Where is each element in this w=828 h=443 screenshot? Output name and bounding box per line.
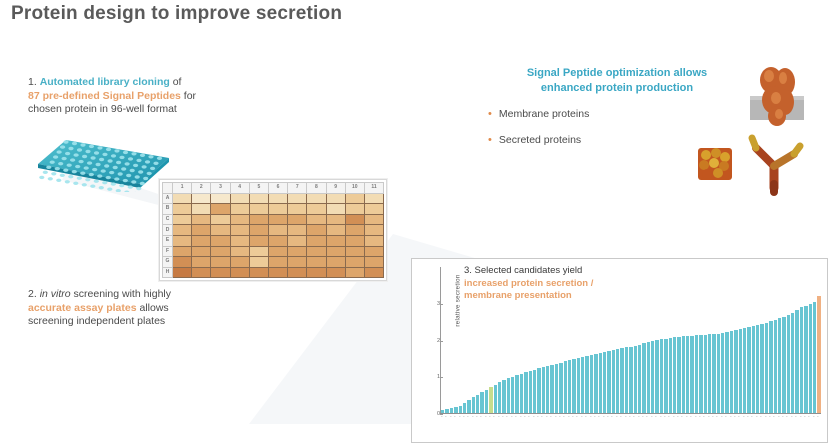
heatmap-cell-G11 — [364, 257, 383, 268]
step1-text: 1. Automated library cloning of 87 pre-d… — [28, 76, 273, 117]
page-title: Protein design to improve secretion — [11, 3, 342, 25]
heatmap-cell-B1 — [173, 204, 192, 215]
chart-x-label-SP87: SP87 — [817, 416, 821, 417]
heatmap-col-header-6: 6 — [268, 183, 287, 194]
heatmap-col-header-5: 5 — [249, 183, 268, 194]
heatmap-cell-C3 — [211, 214, 230, 225]
chart-y-tick-3: 3 — [427, 301, 440, 307]
heatmap-cell-H10 — [345, 267, 364, 278]
table-row: A — [163, 193, 384, 204]
step2-lead: screening with highly — [74, 288, 171, 300]
heatmap-cell-B3 — [211, 204, 230, 215]
heatmap-cell-A11 — [364, 193, 383, 204]
heatmap-cell-E1 — [173, 235, 192, 246]
heatmap-cell-A6 — [268, 193, 287, 204]
heatmap-cell-D10 — [345, 225, 364, 236]
chart-plot-area: 0123 — [440, 267, 821, 414]
slide-root: Protein design to improve secretion 1. A… — [0, 0, 828, 443]
heatmap-cell-D9 — [326, 225, 345, 236]
heatmap-cell-D5 — [249, 225, 268, 236]
heatmap-row-header-B: B — [163, 204, 173, 215]
heatmap-cell-B10 — [345, 204, 364, 215]
heatmap-cell-F11 — [364, 246, 383, 257]
heatmap-col-header-9: 9 — [326, 183, 345, 194]
heatmap-cell-C11 — [364, 214, 383, 225]
heatmap-cell-B2 — [192, 204, 211, 215]
heatmap-cell-B4 — [230, 204, 249, 215]
right-heading-line1: Signal Peptide optimization allows — [527, 67, 707, 79]
heatmap-cell-F5 — [249, 246, 268, 257]
heatmap-cell-B9 — [326, 204, 345, 215]
step1-highlight-cloning: Automated library cloning — [40, 76, 170, 88]
step1-line3: chosen protein in 96-well format — [28, 103, 177, 115]
heatmap-row-header-E: E — [163, 235, 173, 246]
heatmap-cell-F8 — [307, 246, 326, 257]
table-row: F — [163, 246, 384, 257]
heatmap-cell-B6 — [268, 204, 287, 215]
heatmap-cell-H3 — [211, 267, 230, 278]
heatmap-cell-G8 — [307, 257, 326, 268]
heatmap-cell-E9 — [326, 235, 345, 246]
heatmap-cell-F10 — [345, 246, 364, 257]
membrane-protein-icon — [738, 62, 816, 132]
table-row: B — [163, 204, 384, 215]
heatmap-col-header-1: 1 — [173, 183, 192, 194]
list-item: • Membrane proteins — [488, 108, 752, 120]
table-row: G — [163, 257, 384, 268]
heatmap-cell-G9 — [326, 257, 345, 268]
heatmap-col-header-7: 7 — [288, 183, 307, 194]
heatmap-cell-E2 — [192, 235, 211, 246]
heatmap-cell-A1 — [173, 193, 192, 204]
heatmap-cell-B11 — [364, 204, 383, 215]
step2-number: 2. — [28, 288, 37, 300]
heatmap-cell-B8 — [307, 204, 326, 215]
heatmap-cell-H7 — [288, 267, 307, 278]
heatmap-cell-C9 — [326, 214, 345, 225]
heatmap-cell-A5 — [249, 193, 268, 204]
heatmap-cell-G4 — [230, 257, 249, 268]
heatmap-cell-H11 — [364, 267, 383, 278]
heatmap-col-header-11: 11 — [364, 183, 383, 194]
chart-x-axis — [440, 413, 821, 414]
heatmap-cell-E8 — [307, 235, 326, 246]
heatmap-body: ABCDEFGH — [163, 193, 384, 278]
heatmap-cell-F1 — [173, 246, 192, 257]
heatmap-cell-C1 — [173, 214, 192, 225]
heatmap-cell-H6 — [268, 267, 287, 278]
heatmap-row-header-F: F — [163, 246, 173, 257]
assay-plate-heatmap: 1234567891011 ABCDEFGH — [159, 179, 387, 281]
heatmap-cell-F3 — [211, 246, 230, 257]
heatmap-cell-H9 — [326, 267, 345, 278]
heatmap-cell-A3 — [211, 193, 230, 204]
chart-y-tick-0: 0 — [427, 411, 440, 417]
heatmap-cell-D7 — [288, 225, 307, 236]
heatmap-cell-C4 — [230, 214, 249, 225]
heatmap-corner-cell — [163, 183, 173, 194]
step1-number: 1. — [28, 76, 37, 88]
right-panel-bullet-list: • Membrane proteins • Secreted proteins — [482, 108, 752, 146]
heatmap-cell-C2 — [192, 214, 211, 225]
heatmap-row-header-A: A — [163, 193, 173, 204]
heatmap-row-header-C: C — [163, 214, 173, 225]
heatmap-cell-A4 — [230, 193, 249, 204]
heatmap-cell-G10 — [345, 257, 364, 268]
bullet-label-membrane: Membrane proteins — [499, 108, 589, 120]
heatmap-cell-B7 — [288, 204, 307, 215]
step1-mid: of — [173, 76, 182, 88]
bullet-dot-icon: • — [488, 108, 492, 120]
heatmap-cell-E5 — [249, 235, 268, 246]
heatmap-col-header-2: 2 — [192, 183, 211, 194]
heatmap-cell-D6 — [268, 225, 287, 236]
heatmap-cell-H1 — [173, 267, 192, 278]
heatmap-col-header-10: 10 — [345, 183, 364, 194]
heatmap-cell-D2 — [192, 225, 211, 236]
heatmap-cell-D11 — [364, 225, 383, 236]
bullet-label-secreted: Secreted proteins — [499, 134, 581, 146]
step1-highlight-peptides: 87 pre-defined Signal Peptides — [28, 90, 181, 102]
heatmap-cell-G5 — [249, 257, 268, 268]
heatmap-cell-F7 — [288, 246, 307, 257]
heatmap-cell-C6 — [268, 214, 287, 225]
table-row: H — [163, 267, 384, 278]
heatmap-cell-D1 — [173, 225, 192, 236]
heatmap-cell-F6 — [268, 246, 287, 257]
96-well-plate-image — [36, 136, 172, 192]
heatmap-cell-C5 — [249, 214, 268, 225]
right-heading-line2: enhanced protein production — [541, 82, 693, 94]
step2-highlight-plates: accurate assay plates — [28, 302, 137, 314]
step2-line3: screening independent plates — [28, 315, 165, 327]
heatmap-cell-E6 — [268, 235, 287, 246]
heatmap-cell-F2 — [192, 246, 211, 257]
heatmap-cell-H2 — [192, 267, 211, 278]
heatmap-cell-C8 — [307, 214, 326, 225]
step2-italic: in vitro — [40, 288, 71, 300]
step2-text: 2. in vitro screening with highly accura… — [28, 288, 263, 329]
bullet-dot-icon: • — [488, 134, 492, 146]
step2-tail: allows — [140, 302, 169, 314]
heatmap-cell-A10 — [345, 193, 364, 204]
heatmap-col-header-4: 4 — [230, 183, 249, 194]
heatmap-cell-C7 — [288, 214, 307, 225]
heatmap-cell-E4 — [230, 235, 249, 246]
heatmap-cell-A9 — [326, 193, 345, 204]
heatmap-cell-E7 — [288, 235, 307, 246]
chart-bars — [441, 267, 821, 414]
heatmap-col-header-8: 8 — [307, 183, 326, 194]
heatmap-cell-H5 — [249, 267, 268, 278]
heatmap-header-row: 1234567891011 — [163, 183, 384, 194]
chart-y-tick-2: 2 — [427, 338, 440, 344]
heatmap-cell-E3 — [211, 235, 230, 246]
heatmap-cell-F4 — [230, 246, 249, 257]
heatmap-cell-H4 — [230, 267, 249, 278]
heatmap-cell-F9 — [326, 246, 345, 257]
step1-tail: for — [184, 90, 196, 102]
antibody-icon — [744, 132, 804, 196]
heatmap-cell-E11 — [364, 235, 383, 246]
secretion-bar-chart-panel: relative secretion 3. Selected candidate… — [411, 258, 828, 443]
heatmap-cell-A2 — [192, 193, 211, 204]
heatmap-row-header-D: D — [163, 225, 173, 236]
table-row: D — [163, 225, 384, 236]
right-panel-heading: Signal Peptide optimization allows enhan… — [482, 66, 752, 96]
heatmap-cell-G2 — [192, 257, 211, 268]
heatmap-cell-G7 — [288, 257, 307, 268]
heatmap-cell-B5 — [249, 204, 268, 215]
heatmap-cell-G6 — [268, 257, 287, 268]
globular-protein-icon — [694, 142, 738, 184]
chart-y-tick-1: 1 — [427, 374, 440, 380]
heatmap-row-header-G: G — [163, 257, 173, 268]
heatmap-row-header-H: H — [163, 267, 173, 278]
table-row: E — [163, 235, 384, 246]
table-row: C — [163, 214, 384, 225]
heatmap-cell-G1 — [173, 257, 192, 268]
heatmap-cell-D3 — [211, 225, 230, 236]
heatmap-cell-G3 — [211, 257, 230, 268]
heatmap-col-header-3: 3 — [211, 183, 230, 194]
heatmap-cell-A7 — [288, 193, 307, 204]
heatmap-cell-A8 — [307, 193, 326, 204]
heatmap-cell-E10 — [345, 235, 364, 246]
heatmap-cell-H8 — [307, 267, 326, 278]
chart-bar-SP87[interactable] — [817, 296, 821, 414]
heatmap-cell-C10 — [345, 214, 364, 225]
heatmap-table: 1234567891011 ABCDEFGH — [162, 182, 384, 278]
heatmap-cell-D4 — [230, 225, 249, 236]
chart-x-tick-labels: SP01SP02SP03SP04SP05SP06SP07SP08SP09SP10… — [441, 416, 821, 438]
heatmap-cell-D8 — [307, 225, 326, 236]
